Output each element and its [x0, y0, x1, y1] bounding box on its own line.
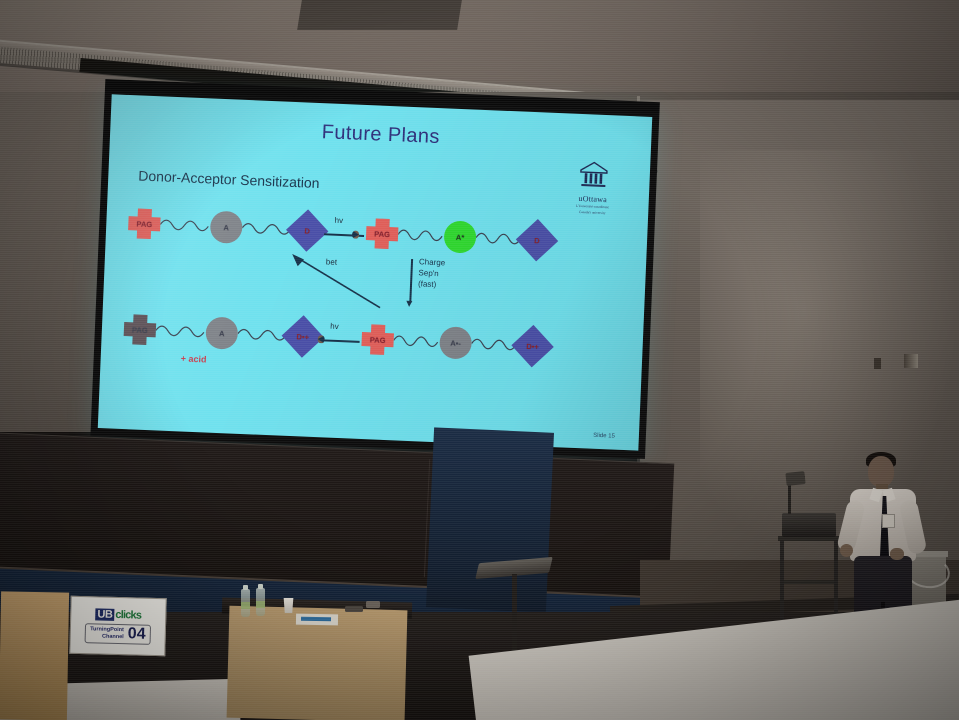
- slide-subtitle: Donor-Acceptor Sensitization: [138, 167, 320, 191]
- donor-label: D•+: [517, 331, 548, 362]
- linker-squiggle: [393, 328, 440, 354]
- charge-line-2: Sep'n: [418, 268, 445, 280]
- pag-node-r1-right: PAG: [366, 218, 399, 249]
- linker-squiggle: [398, 222, 445, 248]
- pag-label: PAG: [128, 208, 161, 239]
- uottawa-tagline-2: Canada's university: [564, 209, 620, 216]
- slide-title: Future Plans: [110, 112, 651, 158]
- water-bottle-2: [256, 588, 265, 616]
- lecture-hall-photo: Future Plans Donor-Acceptor Sensitizatio…: [0, 0, 959, 720]
- charge-separation-text: Charge Sep'n (fast): [418, 257, 446, 290]
- uottawa-logo: uOttawa L'Université canadienne Canada's…: [564, 159, 622, 215]
- pag-node-r2-left: PAG: [123, 314, 156, 345]
- acceptor-node-r1-left: A: [210, 211, 243, 244]
- charge-arrow-line: [409, 259, 412, 303]
- projection-screen: Future Plans Donor-Acceptor Sensitizatio…: [90, 88, 659, 459]
- donor-node-r2-right: D•+: [511, 325, 553, 367]
- donor-label: D: [292, 215, 323, 246]
- pag-label: PAG: [123, 314, 156, 345]
- slide-number: Slide 15: [593, 433, 615, 440]
- acceptor-node-r1-right: A*: [443, 220, 476, 253]
- donor-label: D: [521, 225, 552, 256]
- hv-label: hv: [330, 322, 339, 331]
- bet-label: bet: [326, 257, 337, 266]
- acceptor-label: A: [205, 316, 238, 349]
- hv-arrow-row2: hv: [317, 322, 362, 354]
- diagram-row-1: PAG A D hv: [128, 207, 553, 257]
- linker-squiggle: [155, 318, 206, 344]
- device-on-desk: [366, 601, 380, 608]
- paper-cup: [283, 598, 294, 613]
- charge-line-3: (fast): [418, 279, 445, 291]
- channel-box: TurningPoint Channel 04: [85, 623, 151, 645]
- ub-mark: UB: [95, 608, 114, 620]
- uottawa-building-icon: [578, 160, 609, 189]
- water-bottle-1: [241, 589, 250, 617]
- charge-arrow-head: [407, 301, 413, 307]
- charge-line-1: Charge: [419, 257, 446, 269]
- overhead-projector: [782, 513, 836, 537]
- presenter-hand-right: [890, 548, 904, 560]
- presenter-name-badge: [882, 514, 895, 528]
- ceiling-panel: [297, 0, 463, 30]
- turningpoint-label: TurningPoint Channel: [90, 626, 124, 641]
- donor-node-r1-right: D: [516, 219, 558, 261]
- hv-label: hv: [334, 216, 343, 225]
- acceptor-node-r2-right: A•-: [439, 326, 472, 359]
- pag-label: PAG: [361, 324, 394, 355]
- channel-number: 04: [128, 626, 146, 642]
- donor-label: D•+: [287, 321, 318, 352]
- remote-control: [345, 606, 363, 612]
- papers-on-desk: [296, 614, 338, 626]
- wall-outlet-icon: [874, 358, 881, 369]
- acid-label: + acid: [181, 353, 207, 364]
- ubclicks-logo: UB clicks: [95, 608, 141, 621]
- presenter-hand-left: [840, 544, 853, 557]
- clicker-channel-sign: UB clicks TurningPoint Channel 04: [69, 596, 166, 656]
- slide-content: Future Plans Donor-Acceptor Sensitizatio…: [98, 94, 653, 450]
- bet-arrow: bet: [288, 252, 386, 312]
- hv-arrow-row1: hv: [322, 216, 367, 248]
- linker-squiggle: [160, 212, 211, 238]
- acceptor-label: A*: [443, 220, 476, 253]
- acceptor-label: A: [210, 211, 243, 244]
- acceptor-label: A•-: [439, 326, 472, 359]
- pag-node-r1-left: PAG: [128, 208, 161, 239]
- acceptor-node-r2-left: A: [205, 316, 238, 349]
- pag-node-r2-right: PAG: [361, 324, 394, 355]
- wall-plate-icon: [904, 354, 918, 368]
- clicks-wordmark: clicks: [115, 608, 141, 621]
- projector-head: [785, 471, 805, 486]
- presenter-head: [868, 456, 894, 487]
- pag-label: PAG: [366, 218, 399, 249]
- podium: [0, 591, 69, 720]
